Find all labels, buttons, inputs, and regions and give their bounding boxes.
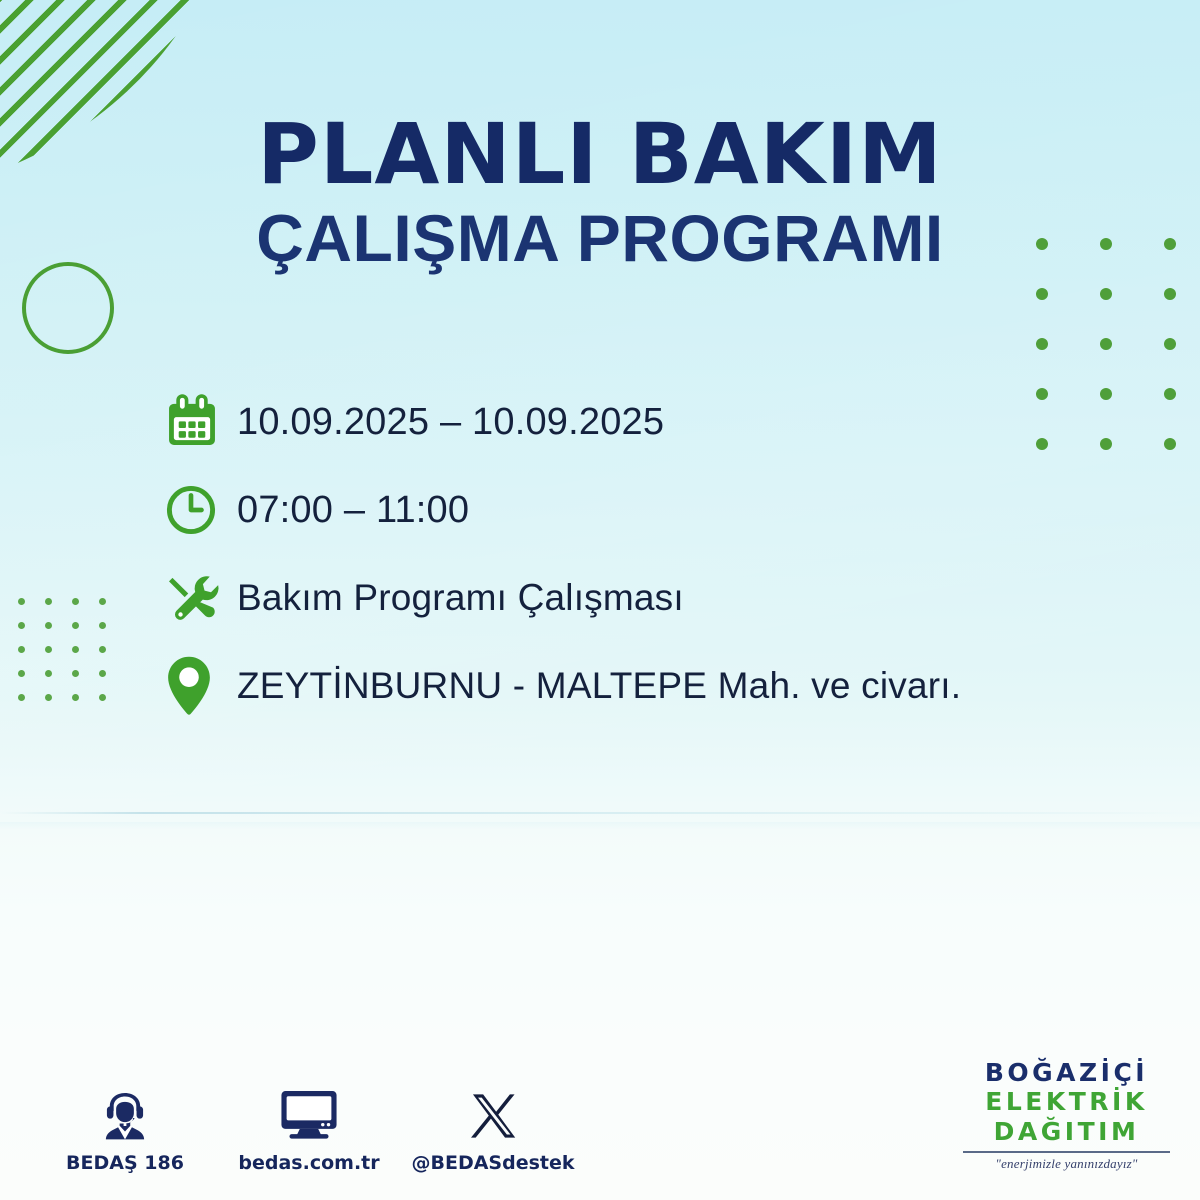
tools-icon	[163, 567, 237, 629]
dot-grid-left-decoration	[18, 598, 126, 718]
headset-support-icon	[97, 1082, 153, 1142]
social-item-call-center[interactable]: BEDAŞ 186	[55, 1082, 195, 1174]
brand-logo-line1: BOĞAZİÇİ	[959, 1058, 1174, 1088]
social-label-website: bedas.com.tr	[238, 1152, 379, 1174]
clock-icon	[163, 479, 237, 541]
social-item-x[interactable]: @BEDASdestek	[423, 1082, 563, 1174]
x-twitter-icon	[467, 1082, 519, 1142]
background-seam-glow	[0, 822, 1200, 830]
brand-logo-line3: DAĞITIM	[959, 1117, 1174, 1147]
social-label-x: @BEDASdestek	[411, 1152, 574, 1174]
info-row-date-text: 10.09.2025 – 10.09.2025	[237, 401, 664, 444]
social-item-website[interactable]: bedas.com.tr	[239, 1082, 379, 1174]
page-title-line1: PLANLI BAKIM	[0, 112, 1200, 196]
info-row-work-type: Bakım Programı Çalışması	[163, 554, 1123, 642]
info-row-time-text: 07:00 – 11:00	[237, 489, 469, 532]
social-label-call-center: BEDAŞ 186	[66, 1152, 184, 1174]
info-row-work-type-text: Bakım Programı Çalışması	[237, 577, 684, 619]
poster-canvas: PLANLI BAKIM ÇALIŞMA PROGRAMI 10	[0, 0, 1200, 1200]
monitor-website-icon	[278, 1082, 340, 1142]
info-row-time: 07:00 – 11:00	[163, 466, 1123, 554]
background-seam-line	[0, 812, 1200, 814]
calendar-icon	[163, 391, 237, 453]
info-row-location-text: ZEYTİNBURNU - MALTEPE Mah. ve civarı.	[237, 665, 961, 707]
info-row-location: ZEYTİNBURNU - MALTEPE Mah. ve civarı.	[163, 642, 1123, 730]
page-title: PLANLI BAKIM ÇALIŞMA PROGRAMI	[0, 112, 1200, 276]
brand-logo-divider	[963, 1151, 1170, 1153]
brand-logo: BOĞAZİÇİ ELEKTRİK DAĞITIM "enerjimizle y…	[959, 1058, 1174, 1173]
outage-info-list: 10.09.2025 – 10.09.2025 07:00 – 11:00	[163, 378, 1123, 730]
location-pin-icon	[163, 655, 237, 717]
brand-logo-line2: ELEKTRİK	[959, 1087, 1174, 1117]
brand-logo-tagline: "enerjimizle yanınızdayız"	[959, 1156, 1174, 1172]
page-title-line2: ÇALIŞMA PROGRAMI	[0, 202, 1200, 276]
info-row-date: 10.09.2025 – 10.09.2025	[163, 378, 1123, 466]
footer-social-links: BEDAŞ 186 bedas.com.tr	[55, 1082, 563, 1174]
